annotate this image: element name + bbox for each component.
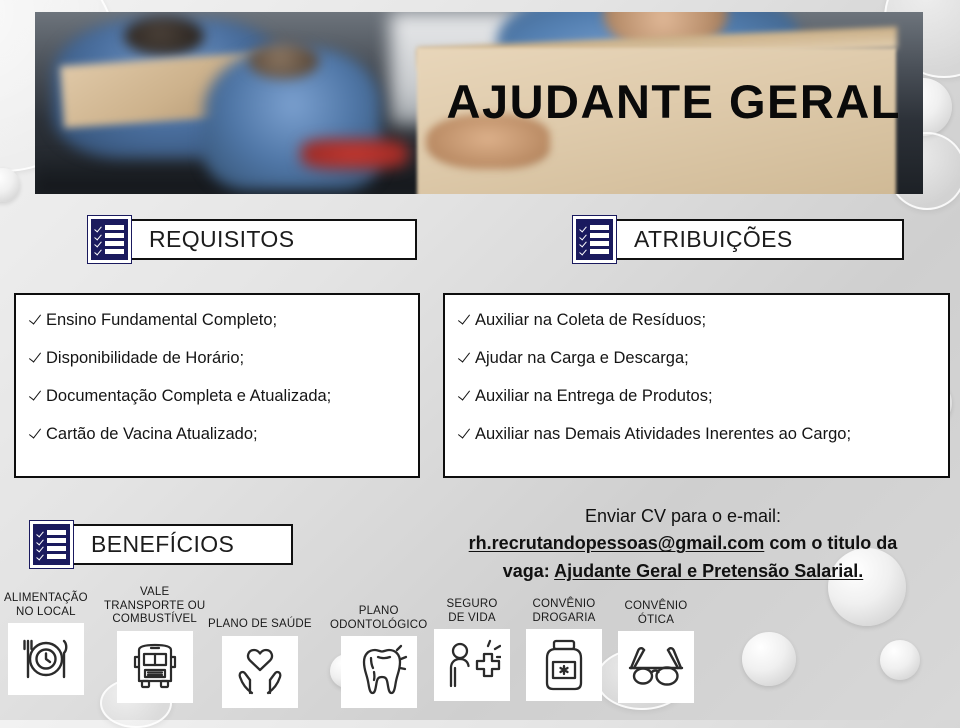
list-item-label: Ensino Fundamental Completo; <box>46 311 277 330</box>
list-item: Cartão de Vacina Atualizado; <box>30 425 404 444</box>
bus-icon <box>117 631 193 703</box>
contact-title-note: com o titulo da <box>764 533 897 553</box>
eyeglasses-icon <box>618 631 694 703</box>
contact-subject: Ajudante Geral e Pretensão Salarial. <box>554 561 863 581</box>
list-item: Ensino Fundamental Completo; <box>30 311 404 330</box>
benefit-plano-saude: PLANO DE SAÚDE <box>208 618 312 708</box>
list-item-label: Auxiliar na Entrega de Produtos; <box>475 387 713 406</box>
check-icon <box>30 312 41 325</box>
check-icon <box>30 350 41 363</box>
list-item: Ajudar na Carga e Descarga; <box>459 349 934 368</box>
benefit-label: PLANO ODONTOLÓGICO <box>330 605 427 632</box>
section-title-box: BENEFÍCIOS <box>71 524 293 565</box>
benefit-label: SEGURO DE VIDA <box>446 598 497 625</box>
benefit-seguro-vida: SEGURO DE VIDA <box>434 598 510 701</box>
list-item-label: Documentação Completa e Atualizada; <box>46 387 331 406</box>
checklist-icon <box>573 216 616 263</box>
section-title-requisitos: REQUISITOS <box>149 226 294 253</box>
section-title-atribuicoes: ATRIBUIÇÕES <box>634 226 793 253</box>
meal-clock-icon <box>8 623 84 695</box>
list-item: Auxiliar na Entrega de Produtos; <box>459 387 934 406</box>
tooth-icon <box>341 636 417 708</box>
list-item: Auxiliar nas Demais Atividades Inerentes… <box>459 425 934 444</box>
decorative-bubble <box>0 168 20 202</box>
list-item-label: Auxiliar na Coleta de Resíduos; <box>475 311 706 330</box>
person-cross-icon <box>434 629 510 701</box>
section-title-beneficios: BENEFÍCIOS <box>91 531 234 558</box>
decorative-bubble <box>880 640 920 680</box>
checklist-icon <box>88 216 131 263</box>
requisitos-list: Ensino Fundamental Completo; Disponibili… <box>30 311 404 444</box>
requisitos-panel: Ensino Fundamental Completo; Disponibili… <box>14 293 420 478</box>
decorative-bubble <box>742 632 796 686</box>
check-icon <box>459 312 470 325</box>
medicine-bottle-icon <box>526 629 602 701</box>
list-item-label: Disponibilidade de Horário; <box>46 349 244 368</box>
benefit-alimentacao: ALIMENTAÇÃO NO LOCAL <box>4 592 88 695</box>
list-item-label: Ajudar na Carga e Descarga; <box>475 349 689 368</box>
list-item-label: Auxiliar nas Demais Atividades Inerentes… <box>475 425 851 444</box>
benefit-convenio-drogaria: CONVÊNIO DROGARIA <box>526 598 602 701</box>
section-header-atribuicoes: ATRIBUIÇÕES <box>573 216 904 263</box>
section-title-box: ATRIBUIÇÕES <box>614 219 904 260</box>
benefit-plano-odontologico: PLANO ODONTOLÓGICO <box>330 605 427 708</box>
contact-subject-prefix: vaga: <box>503 561 554 581</box>
section-title-box: REQUISITOS <box>129 219 417 260</box>
list-item: Documentação Completa e Atualizada; <box>30 387 404 406</box>
email-link[interactable]: rh.recrutandopessoas@gmail.com <box>469 533 765 553</box>
list-item: Auxiliar na Coleta de Resíduos; <box>459 311 934 330</box>
contact-instruction: Enviar CV para o e-mail: <box>418 503 948 530</box>
list-item-label: Cartão de Vacina Atualizado; <box>46 425 258 444</box>
check-icon <box>459 388 470 401</box>
benefit-vale-transporte: VALE TRANSPORTE OU COMBUSTÍVEL <box>104 586 205 703</box>
benefit-label: PLANO DE SAÚDE <box>208 618 312 632</box>
check-icon <box>459 426 470 439</box>
atribuicoes-panel: Auxiliar na Coleta de Resíduos; Ajudar n… <box>443 293 950 478</box>
hero-title: AJUDANTE GERAL <box>447 74 901 129</box>
section-header-beneficios: BENEFÍCIOS <box>30 521 293 568</box>
benefit-label: CONVÊNIO DROGARIA <box>533 598 596 625</box>
section-header-requisitos: REQUISITOS <box>88 216 417 263</box>
benefit-label: CONVÊNIO ÓTICA <box>625 600 688 627</box>
atribuicoes-list: Auxiliar na Coleta de Resíduos; Ajudar n… <box>459 311 934 444</box>
benefit-convenio-otica: CONVÊNIO ÓTICA <box>618 600 694 703</box>
check-icon <box>459 350 470 363</box>
list-item: Disponibilidade de Horário; <box>30 349 404 368</box>
benefit-label: ALIMENTAÇÃO NO LOCAL <box>4 592 88 619</box>
checklist-icon <box>30 521 73 568</box>
benefit-label: VALE TRANSPORTE OU COMBUSTÍVEL <box>104 586 205 627</box>
hands-heart-icon <box>222 636 298 708</box>
hero-banner: AJUDANTE GERAL <box>35 12 923 194</box>
check-icon <box>30 426 41 439</box>
contact-block: Enviar CV para o e-mail: rh.recrutandope… <box>418 503 948 585</box>
check-icon <box>30 388 41 401</box>
